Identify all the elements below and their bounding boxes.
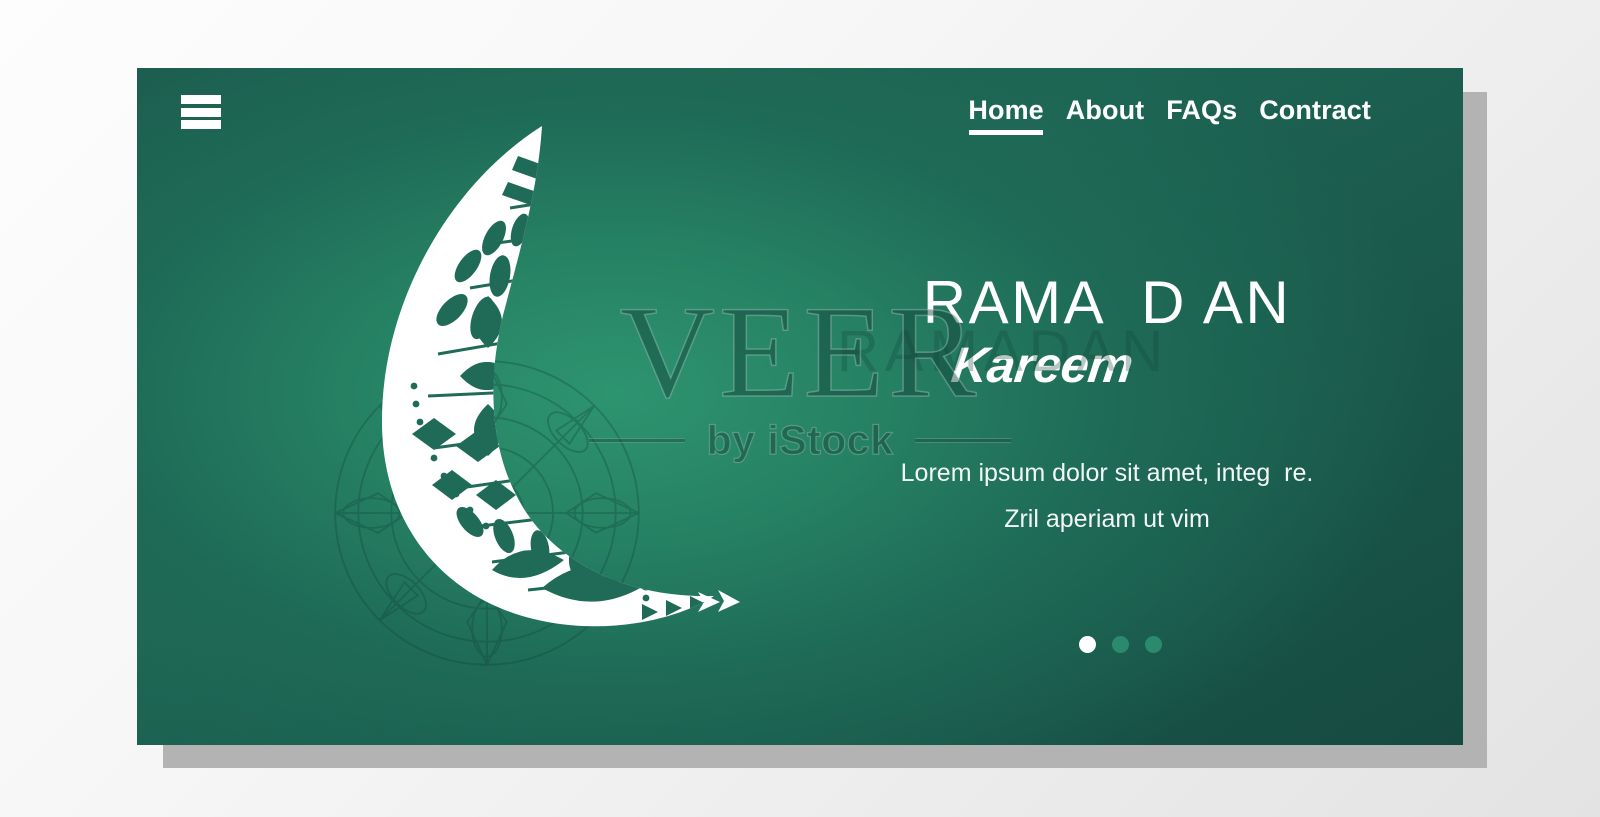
- hero-subtext-line-2: Zril aperiam ut vim: [777, 496, 1437, 542]
- hamburger-bar-3: [181, 120, 221, 129]
- hero-panel: Home About FAQs Contract RAMA D AN Karee…: [137, 68, 1463, 745]
- hamburger-bar-1: [181, 95, 221, 104]
- hero-headline: RAMA D AN: [777, 273, 1437, 333]
- ornamental-crescent-moon: [342, 118, 762, 638]
- carousel-dot-1[interactable]: [1079, 636, 1096, 653]
- carousel-dot-2[interactable]: [1112, 636, 1129, 653]
- hero-headline-script: Kareem: [949, 339, 1440, 392]
- hero-subtext: Lorem ipsum dolor sit amet, integ re. Zr…: [777, 450, 1437, 543]
- hero-topbar: Home About FAQs Contract: [137, 68, 1463, 173]
- hamburger-menu-icon[interactable]: [181, 95, 221, 129]
- hamburger-bar-2: [181, 108, 221, 117]
- main-nav: Home About FAQs Contract: [968, 96, 1371, 132]
- nav-item-home[interactable]: Home: [968, 96, 1043, 132]
- nav-item-faqs[interactable]: FAQs: [1166, 96, 1237, 132]
- carousel-dots: [1079, 636, 1162, 653]
- hero-copy-block: RAMA D AN Kareem Lorem ipsum dolor sit a…: [777, 273, 1437, 542]
- nav-item-about[interactable]: About: [1066, 96, 1144, 132]
- hero-subtext-line-1: Lorem ipsum dolor sit amet, integ re.: [777, 450, 1437, 496]
- carousel-dot-3[interactable]: [1145, 636, 1162, 653]
- nav-item-contract[interactable]: Contract: [1259, 96, 1371, 132]
